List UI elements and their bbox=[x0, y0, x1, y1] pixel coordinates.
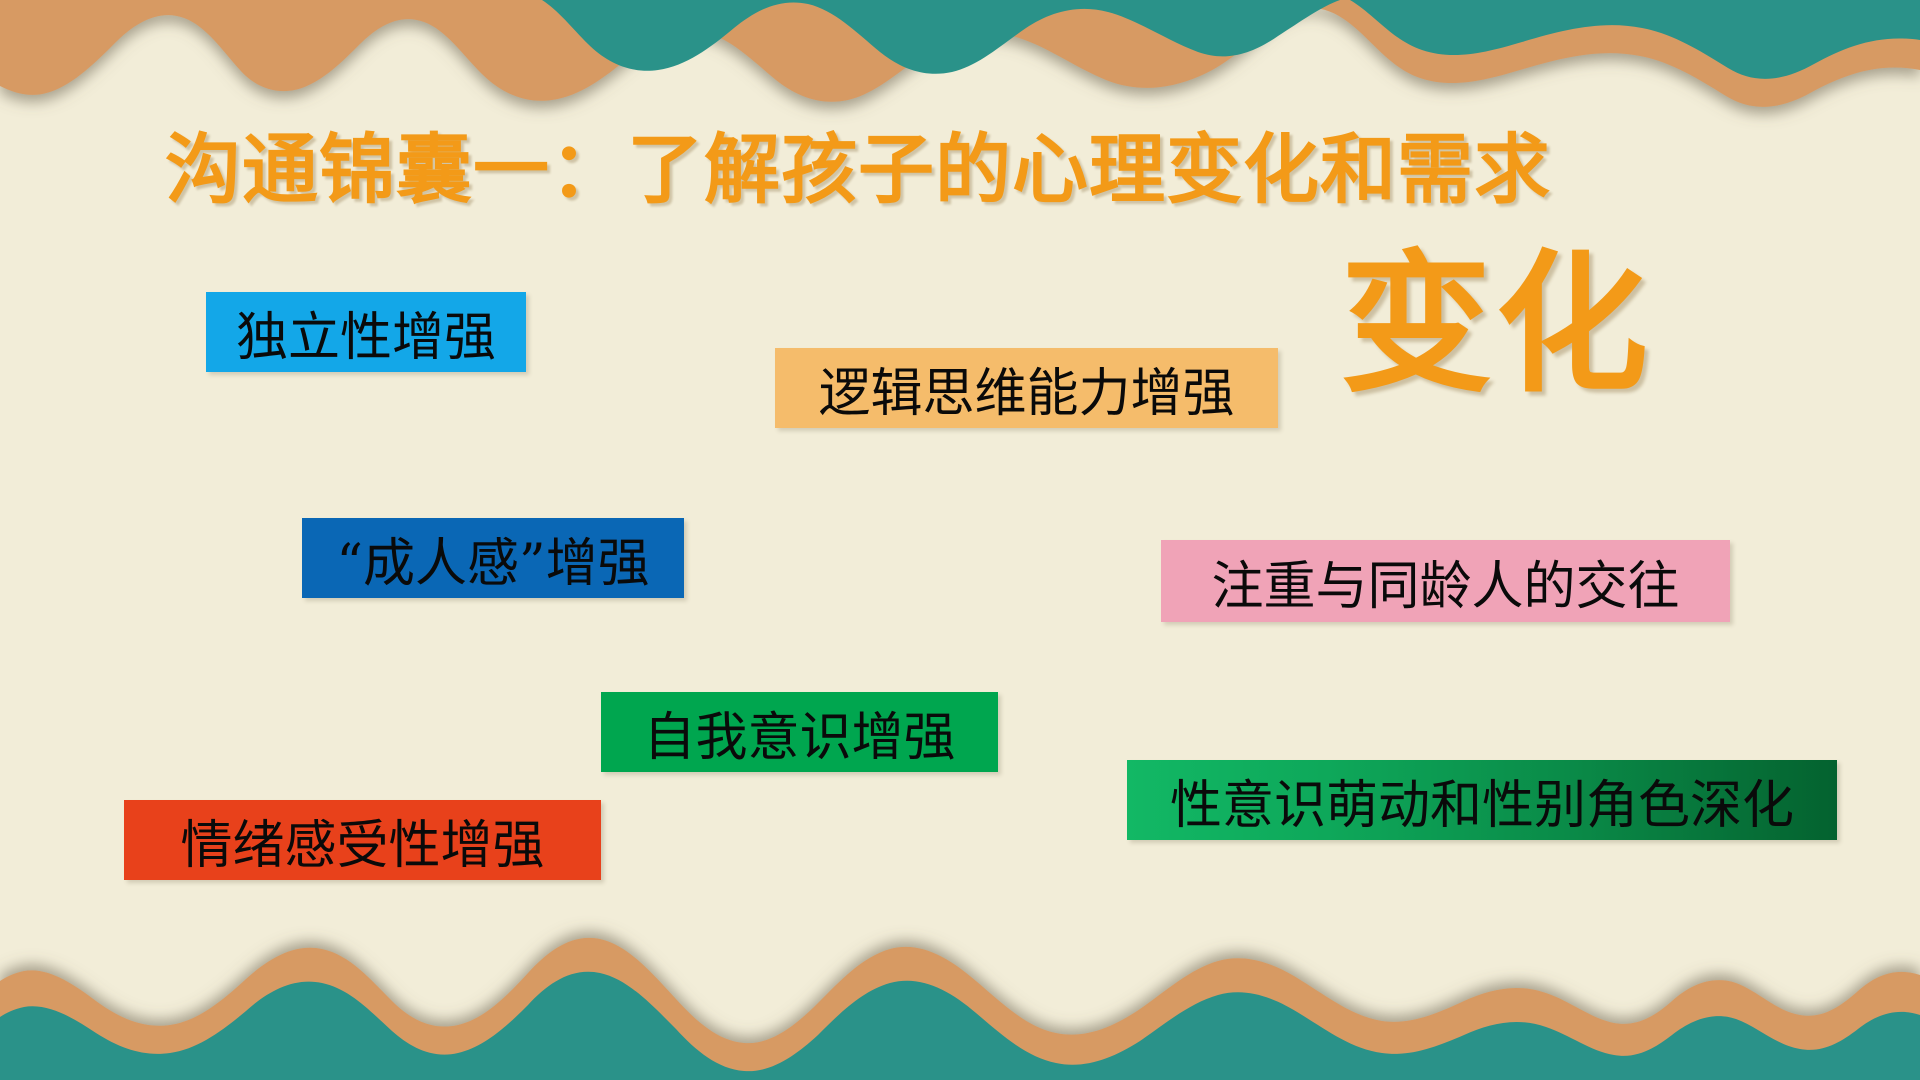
torn-paper-wave-bottom-icon bbox=[0, 915, 1920, 1080]
slide-canvas: 沟通锦囊一：了解孩子的心理变化和需求 变化 独立性增强 逻辑思维能力增强 “成人… bbox=[0, 0, 1920, 1080]
label-chip-gender-identity[interactable]: 性意识萌动和性别角色深化 bbox=[1127, 760, 1837, 840]
page-title: 沟通锦囊一：了解孩子的心理变化和需求 bbox=[165, 108, 1551, 218]
label-chip-self-awareness[interactable]: 自我意识增强 bbox=[601, 692, 998, 772]
big-keyword: 变化 bbox=[1340, 248, 1652, 400]
bottom-wave-decoration bbox=[0, 915, 1920, 1080]
label-chip-peer-relations[interactable]: 注重与同龄人的交往 bbox=[1161, 540, 1730, 622]
label-chip-adult-feeling[interactable]: “成人感”增强 bbox=[302, 518, 684, 598]
label-chip-emotional-sensitivity[interactable]: 情绪感受性增强 bbox=[124, 800, 601, 880]
label-chip-independence[interactable]: 独立性增强 bbox=[206, 292, 526, 372]
label-chip-logic[interactable]: 逻辑思维能力增强 bbox=[775, 348, 1278, 428]
